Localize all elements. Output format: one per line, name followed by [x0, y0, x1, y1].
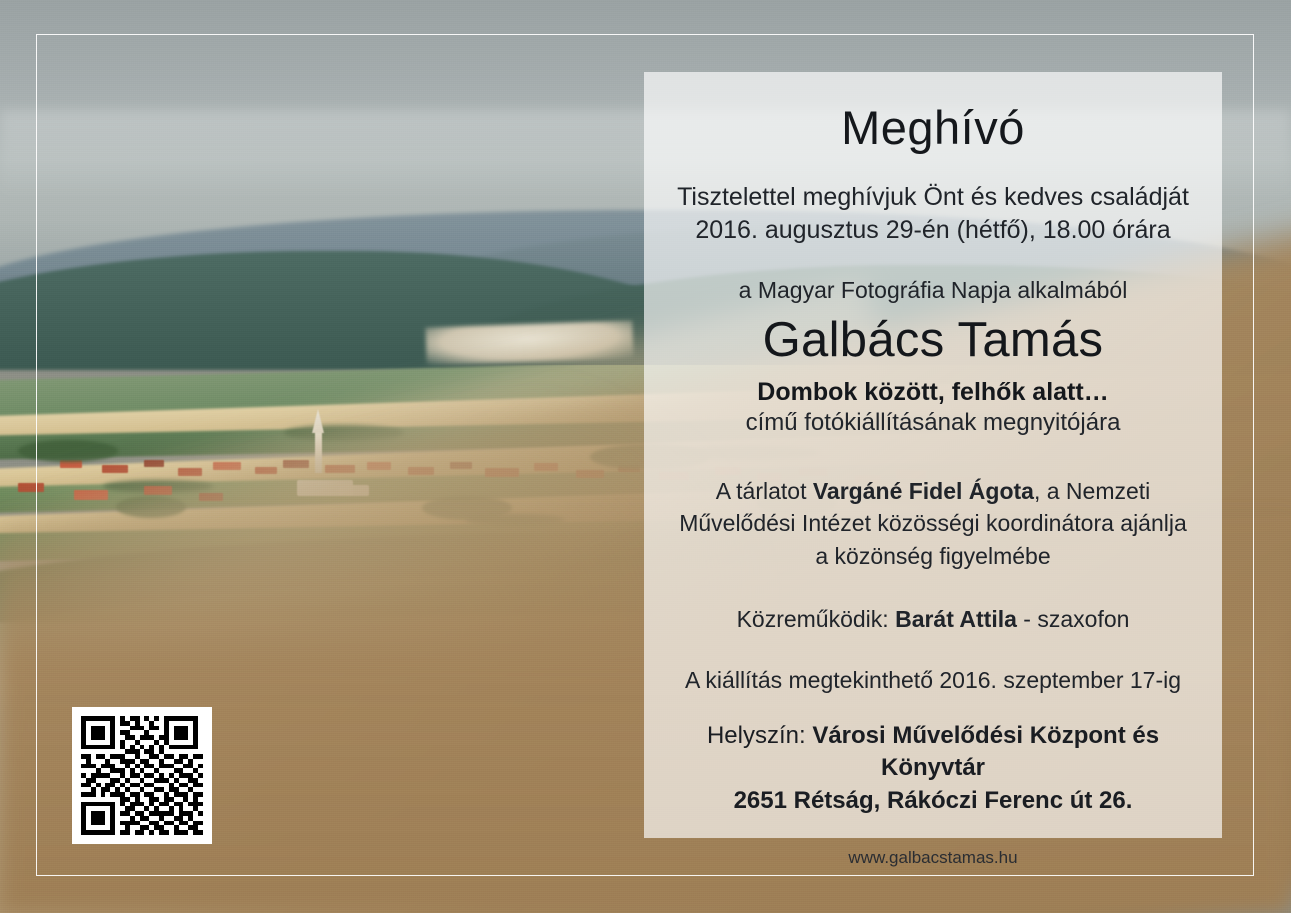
venue-address: 2651 Rétság, Rákóczi Ferenc út 26.	[658, 785, 1208, 818]
open-until-text: A kiállítás megtekinthető 2016. szeptemb…	[644, 667, 1222, 694]
venue-block: Helyszín: Városi Művelődési Központ és K…	[644, 720, 1222, 818]
musician-name: Barát Attila	[895, 606, 1017, 632]
opener-line-2: Művelődési Intézet közösségi koordinátor…	[658, 507, 1208, 540]
opener-prefix: A tárlatot	[716, 478, 813, 504]
invitation-line-2: 2016. augusztus 29-én (hétfő), 18.00 órá…	[658, 214, 1208, 247]
music-suffix: - szaxofon	[1017, 606, 1130, 632]
music-credit: Közreműködik: Barát Attila - szaxofon	[644, 606, 1222, 633]
invitation-text-panel: Meghívó Tisztelettel meghívjuk Önt és ke…	[644, 72, 1222, 838]
opener-name: Vargáné Fidel Ágota	[813, 478, 1034, 504]
venue-address-text: 2651 Rétság, Rákóczi Ferenc út 26.	[734, 787, 1133, 814]
qr-code[interactable]	[72, 707, 212, 844]
qr-code-matrix	[81, 716, 203, 835]
invitation-line-1: Tisztelettel meghívjuk Önt és kedves csa…	[658, 181, 1208, 214]
venue-line-1: Helyszín: Városi Művelődési Központ és K…	[658, 720, 1208, 785]
music-prefix: Közreműködik:	[737, 606, 896, 632]
website-link[interactable]: www.galbacstamas.hu	[644, 848, 1222, 868]
occasion-text: a Magyar Fotográfia Napja alkalmából	[644, 277, 1222, 304]
opener-paragraph: A tárlatot Vargáné Fidel Ágota, a Nemzet…	[644, 475, 1222, 573]
exhibition-title: Dombok között, felhők alatt…	[644, 378, 1222, 407]
venue-name: Városi Művelődési Központ és Könyvtár	[812, 722, 1159, 782]
opener-line-3: a közönség figyelmébe	[658, 540, 1208, 573]
page-title: Meghívó	[644, 102, 1222, 154]
invitation-lines: Tisztelettel meghívjuk Önt és kedves csa…	[644, 181, 1222, 247]
opener-line-1: A tárlatot Vargáné Fidel Ágota, a Nemzet…	[658, 475, 1208, 508]
exhibition-subtitle: című fotókiállításának megnyitójára	[644, 409, 1222, 437]
invitation-poster: Meghívó Tisztelettel meghívjuk Önt és ke…	[0, 0, 1291, 913]
artist-name: Galbács Tamás	[644, 312, 1222, 368]
venue-prefix: Helyszín:	[707, 722, 812, 749]
opener-suffix: , a Nemzeti	[1034, 478, 1150, 504]
